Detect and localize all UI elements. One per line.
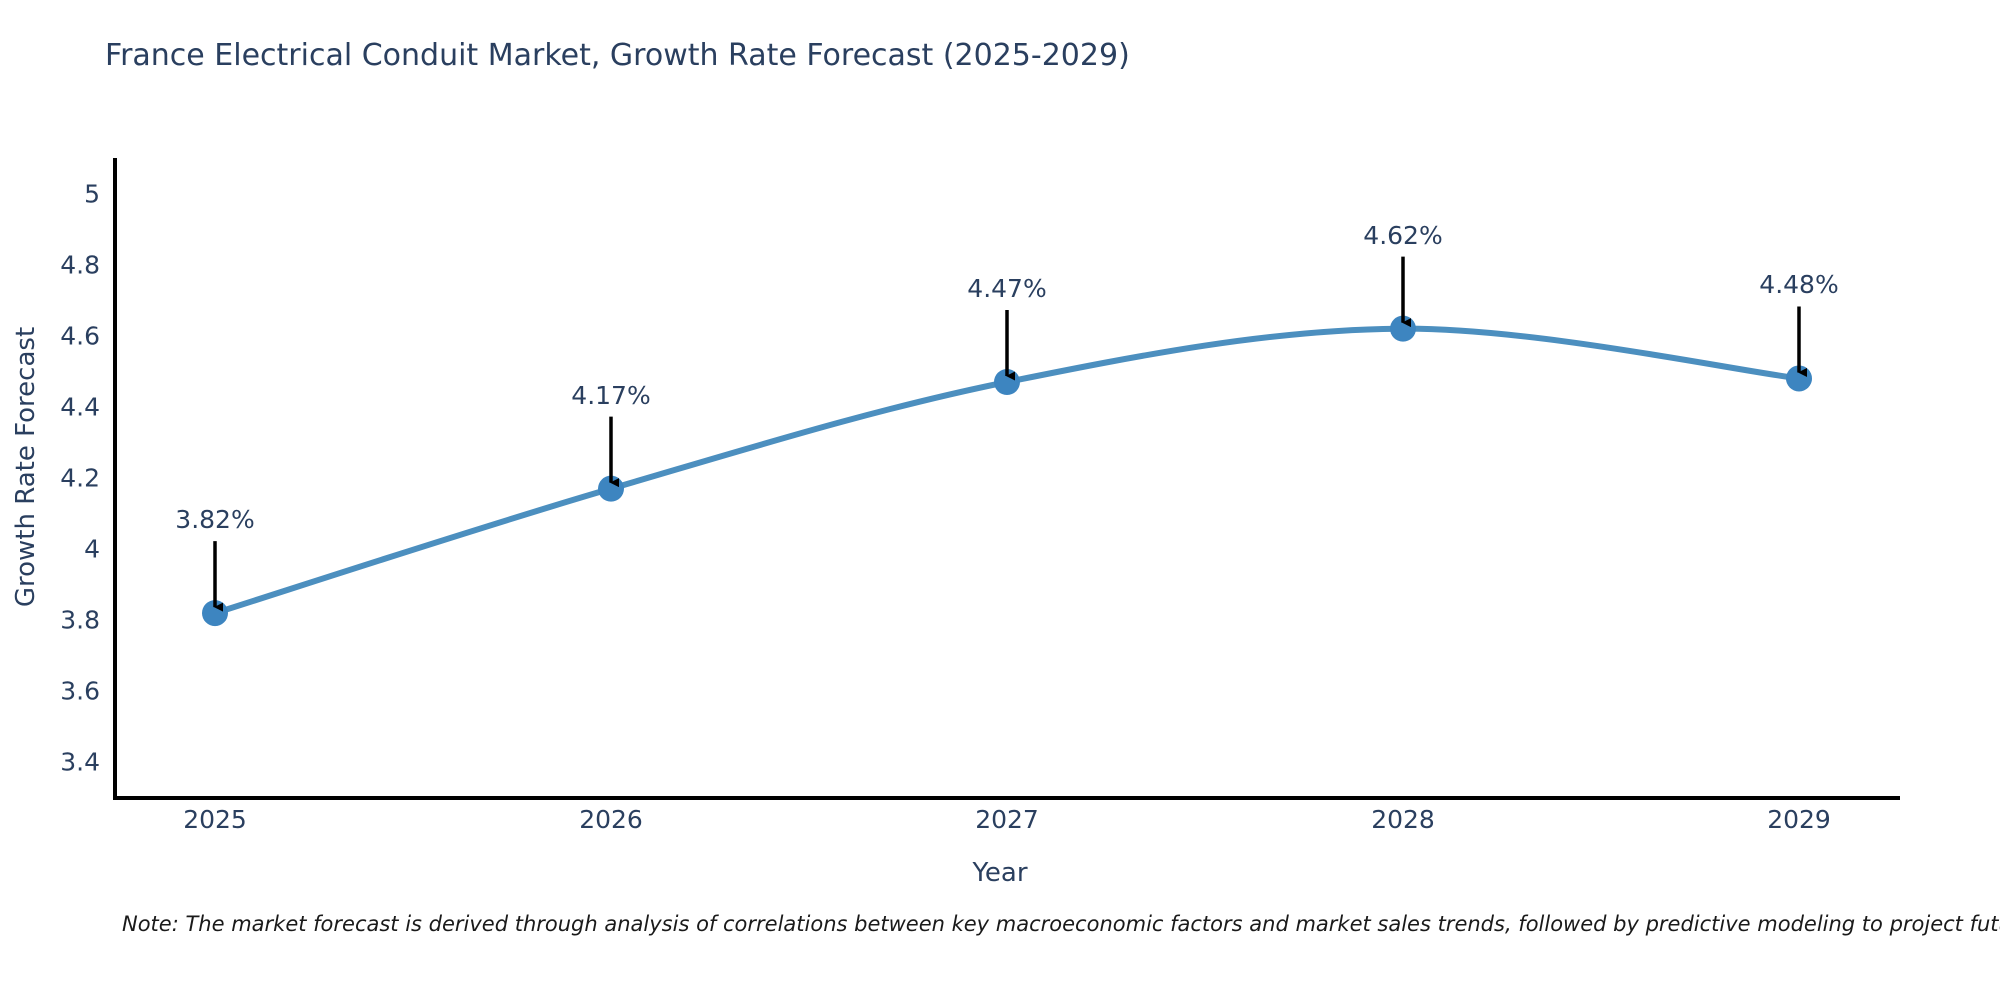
plot-area bbox=[0, 0, 2000, 1000]
annotation-arrows bbox=[215, 257, 1799, 607]
axis-lines bbox=[113, 158, 1900, 800]
footnote-note: Note: The market forecast is derived thr… bbox=[122, 912, 2000, 936]
chart-container: France Electrical Conduit Market, Growth… bbox=[0, 0, 2000, 1000]
